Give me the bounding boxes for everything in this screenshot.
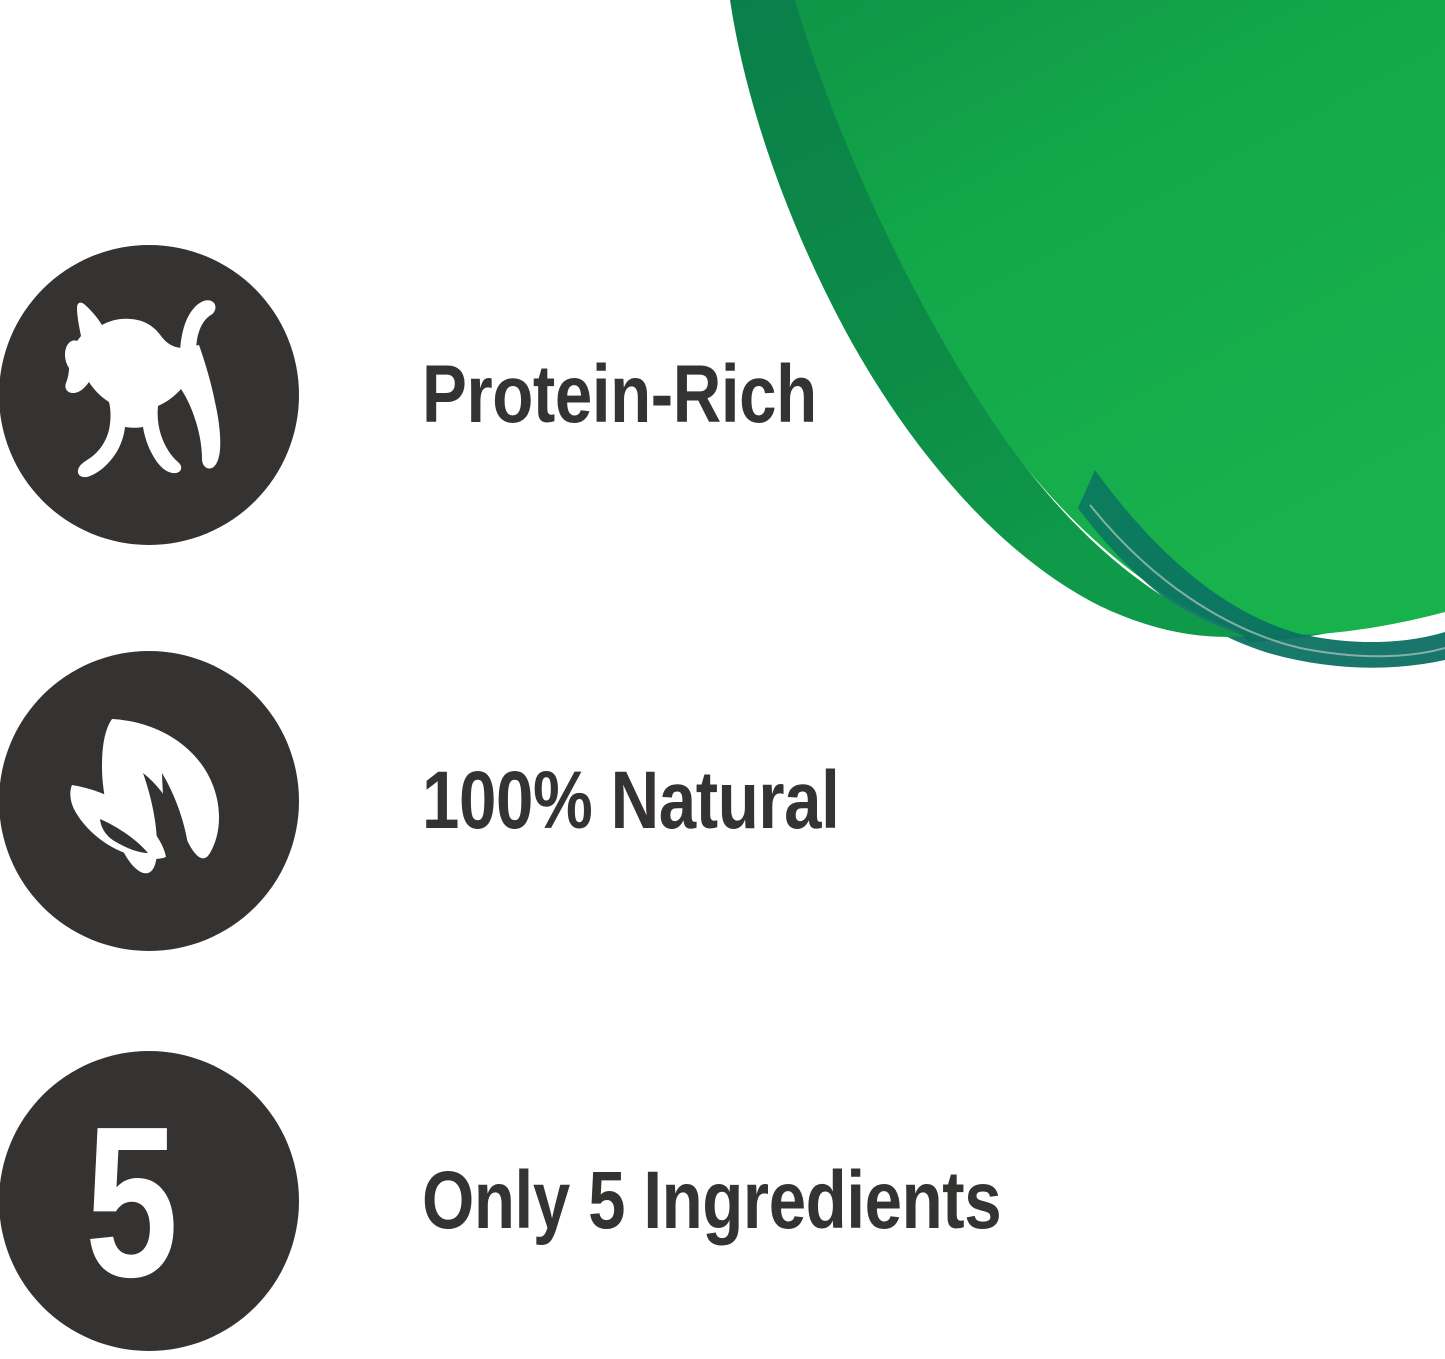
benefit-icon-circle-natural xyxy=(0,651,299,951)
leaf-icon xyxy=(44,701,254,901)
cat-icon xyxy=(39,290,259,500)
benefit-label-natural: 100% Natural xyxy=(422,760,1261,842)
benefit-icon-circle-ingredients: 5 xyxy=(0,1051,299,1351)
number-five-icon: 5 xyxy=(85,1094,178,1309)
benefit-row-protein-rich: Protein-Rich xyxy=(0,242,1445,548)
infographic-canvas: Protein-Rich 100% Natural 5 xyxy=(0,0,1445,1359)
benefit-row-natural: 100% Natural xyxy=(0,648,1445,954)
benefit-row-ingredients: 5 Only 5 Ingredients xyxy=(0,1048,1445,1354)
benefit-label-ingredients: Only 5 Ingredients xyxy=(422,1160,1261,1242)
benefit-icon-circle-protein-rich xyxy=(0,245,299,545)
benefit-label-protein-rich: Protein-Rich xyxy=(422,354,1261,436)
